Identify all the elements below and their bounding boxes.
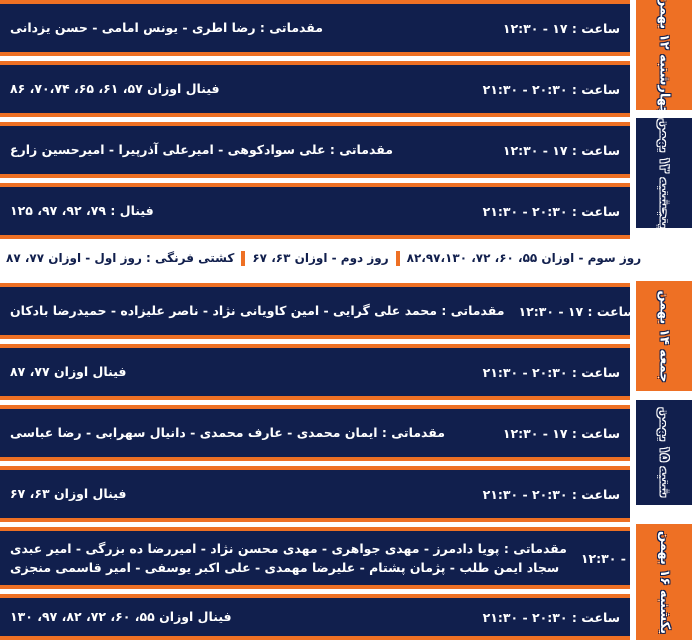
row-description: مقدماتی : علی سوادکوهی - امیرعلی آذرپیرا… [10,140,497,159]
row-description-line: مقدماتی : ایمان محمدی - عارف محمدی - دان… [10,423,489,442]
day-tab-label: جمعه ۱۴ بهمن [657,290,672,382]
divider-separator-icon [396,251,400,266]
row-description-line: مقدماتی : علی سوادکوهی - امیرعلی آذرپیرا… [10,140,489,159]
table-row: مقدماتی : علی سوادکوهی - امیرعلی آذرپیرا… [0,122,630,178]
day-tab-3[interactable]: جمعه ۱۴ بهمن [636,281,692,391]
table-row: فینال اوزان ۶۳، ۶۷ساعت : ۲۰:۳۰ - ۲۱:۳۰ [0,466,630,522]
wrestling-schedule-poster: مقدماتی : رضا اطری - یونس امامی - حسن یز… [0,0,700,640]
schedule-rows-container: مقدماتی : رضا اطری - یونس امامی - حسن یز… [0,0,630,640]
divider-title: کشتی فرنگی : روز اول - اوزان ۷۷، ۸۷ [6,251,234,265]
table-row: فینال اوزان ۷۷، ۸۷ساعت : ۲۰:۳۰ - ۲۱:۳۰ [0,344,630,400]
row-description-line: فینال : ۷۹، ۹۲، ۹۷، ۱۲۵ [10,201,469,220]
row-description-line: مقدماتی : رضا اطری - یونس امامی - حسن یز… [10,18,489,37]
row-time: ساعت : ۲۰:۳۰ - ۲۱:۳۰ [477,82,620,97]
row-description-line: فینال اوزان ۵۷، ۶۱، ۶۵، ۷۰،۷۴، ۸۶ [10,79,469,98]
row-time: ساعت : ۱۷ - ۱۲:۳۰ [575,551,630,566]
row-description: مقدماتی : رضا اطری - یونس امامی - حسن یز… [10,18,497,37]
row-time: ساعت : ۱۷ - ۱۲:۳۰ [512,304,630,319]
row-time: ساعت : ۱۷ - ۱۲:۳۰ [497,143,620,158]
day-tabs-column: چهارشنبه ۱۲ بهمنپنجشنبه ۱۳ بهمنجمعه ۱۴ ب… [630,0,700,640]
row-time: ساعت : ۲۰:۳۰ - ۲۱:۳۰ [477,365,620,380]
row-description: مقدماتی : محمد علی گرایی - امین کاویانی … [10,301,512,320]
table-row: مقدماتی : ایمان محمدی - عارف محمدی - دان… [0,405,630,461]
row-description: فینال اوزان ۷۷، ۸۷ [10,362,477,381]
row-time: ساعت : ۲۰:۳۰ - ۲۱:۳۰ [477,204,620,219]
row-time: ساعت : ۲۰:۳۰ - ۲۱:۳۰ [477,487,620,502]
row-time: ساعت : ۱۷ - ۱۲:۳۰ [497,426,620,441]
day-tab-label: یکشنبه ۱۶ بهمن [656,531,671,634]
table-row: فینال اوزان ۵۷، ۶۱، ۶۵، ۷۰،۷۴، ۸۶ساعت : … [0,61,630,117]
row-description-line: مقدماتی : پویا دادمرز - مهدی جواهری - مه… [10,539,567,558]
row-description: مقدماتی : ایمان محمدی - عارف محمدی - دان… [10,423,497,442]
row-description-line: فینال اوزان ۶۳، ۶۷ [10,484,469,503]
table-row: فینال اوزان ۵۵، ۶۰، ۷۲، ۸۲، ۹۷، ۱۳۰ساعت … [0,594,630,640]
day-tab-label: چهارشنبه ۱۲ بهمن [657,0,672,110]
day-tab-1[interactable]: چهارشنبه ۱۲ بهمن [636,0,692,110]
row-description: فینال : ۷۹، ۹۲، ۹۷، ۱۲۵ [10,201,477,220]
table-row: مقدماتی : رضا اطری - یونس امامی - حسن یز… [0,0,630,56]
divider-segment: روز دوم - اوزان ۶۳، ۶۷ [252,251,388,265]
day-tab-label: شنبه ۱۵ بهمن [657,407,672,497]
row-description: فینال اوزان ۵۷، ۶۱، ۶۵، ۷۰،۷۴، ۸۶ [10,79,477,98]
row-time: ساعت : ۱۷ - ۱۲:۳۰ [497,21,620,36]
row-description: فینال اوزان ۵۵، ۶۰، ۷۲، ۸۲، ۹۷، ۱۳۰ [10,607,477,626]
row-time: ساعت : ۲۰:۳۰ - ۲۱:۳۰ [477,610,620,625]
row-description: مقدماتی : پویا دادمرز - مهدی جواهری - مه… [10,539,575,578]
table-row: فینال : ۷۹، ۹۲، ۹۷، ۱۲۵ساعت : ۲۰:۳۰ - ۲۱… [0,183,630,239]
greco-roman-divider: کشتی فرنگی : روز اول - اوزان ۷۷، ۸۷روز د… [0,244,700,272]
table-row: مقدماتی : پویا دادمرز - مهدی جواهری - مه… [0,527,630,589]
day-tab-5[interactable]: یکشنبه ۱۶ بهمن [636,524,692,640]
row-description-line: مقدماتی : محمد علی گرایی - امین کاویانی … [10,301,504,320]
divider-segment: روز سوم - اوزان ۵۵، ۶۰، ۷۲، ۸۲،۹۷،۱۳۰ [407,251,642,265]
row-description-line: سجاد ایمن طلب - پژمان پشتام - علیرضا مهم… [10,558,567,577]
row-description-line: فینال اوزان ۷۷، ۸۷ [10,362,469,381]
divider-separator-icon [241,251,245,266]
table-row: مقدماتی : محمد علی گرایی - امین کاویانی … [0,283,630,339]
row-description-line: فینال اوزان ۵۵، ۶۰، ۷۲، ۸۲، ۹۷، ۱۳۰ [10,607,469,626]
day-tab-2[interactable]: پنجشنبه ۱۳ بهمن [636,118,692,228]
day-tab-4[interactable]: شنبه ۱۵ بهمن [636,400,692,505]
day-tab-label: پنجشنبه ۱۳ بهمن [657,118,672,228]
row-description: فینال اوزان ۶۳، ۶۷ [10,484,477,503]
